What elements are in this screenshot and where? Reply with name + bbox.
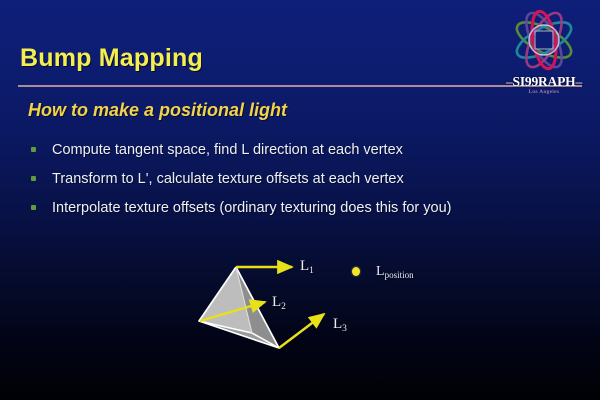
triangle-face-left xyxy=(199,267,252,333)
siggraph-wordmark: –SI99RAPH– xyxy=(492,74,596,90)
list-item-text: Interpolate texture offsets (ordinary te… xyxy=(52,200,452,216)
list-item-text: Transform to L', calculate texture offse… xyxy=(52,171,404,187)
vector-label-L2: L2 xyxy=(272,294,286,311)
slide-canvas: Bump Mapping How to make a positional li… xyxy=(0,0,600,400)
wordmark-text: SI99RAPH xyxy=(513,74,576,89)
page-title: Bump Mapping xyxy=(20,44,203,73)
vector-L2 xyxy=(200,302,265,321)
vector-label-L1: L1 xyxy=(300,258,314,275)
siggraph-city: Los Angeles xyxy=(492,89,596,95)
list-item: Interpolate texture offsets (ordinary te… xyxy=(26,199,574,218)
bullet-marker-icon xyxy=(31,176,36,181)
slide-subtitle: How to make a positional light xyxy=(28,100,287,121)
bullet-list: Compute tangent space, find L direction … xyxy=(26,141,574,228)
list-item: Transform to L', calculate texture offse… xyxy=(26,170,574,189)
wordmark-dash-right: – xyxy=(575,74,582,89)
triangle-face-right xyxy=(236,267,279,348)
vector-L3 xyxy=(279,314,324,348)
bullet-marker-icon xyxy=(31,147,36,152)
triangle-face-bottom xyxy=(199,321,279,348)
bullet-marker-icon xyxy=(31,205,36,210)
vector-label-L3: L3 xyxy=(333,316,347,333)
vector-label-Lposition: Lposition xyxy=(376,264,414,280)
list-item-text: Compute tangent space, find L direction … xyxy=(52,142,403,158)
triangle-outline xyxy=(199,267,279,348)
triangle-hidden-edge xyxy=(236,267,252,333)
triangle-inner-edge xyxy=(199,321,279,348)
list-item: Compute tangent space, find L direction … xyxy=(26,141,574,160)
siggraph-rings-icon xyxy=(492,8,596,76)
light-position-dot-icon xyxy=(352,267,360,276)
siggraph-logo: –SI99RAPH– Los Angeles xyxy=(492,8,596,100)
